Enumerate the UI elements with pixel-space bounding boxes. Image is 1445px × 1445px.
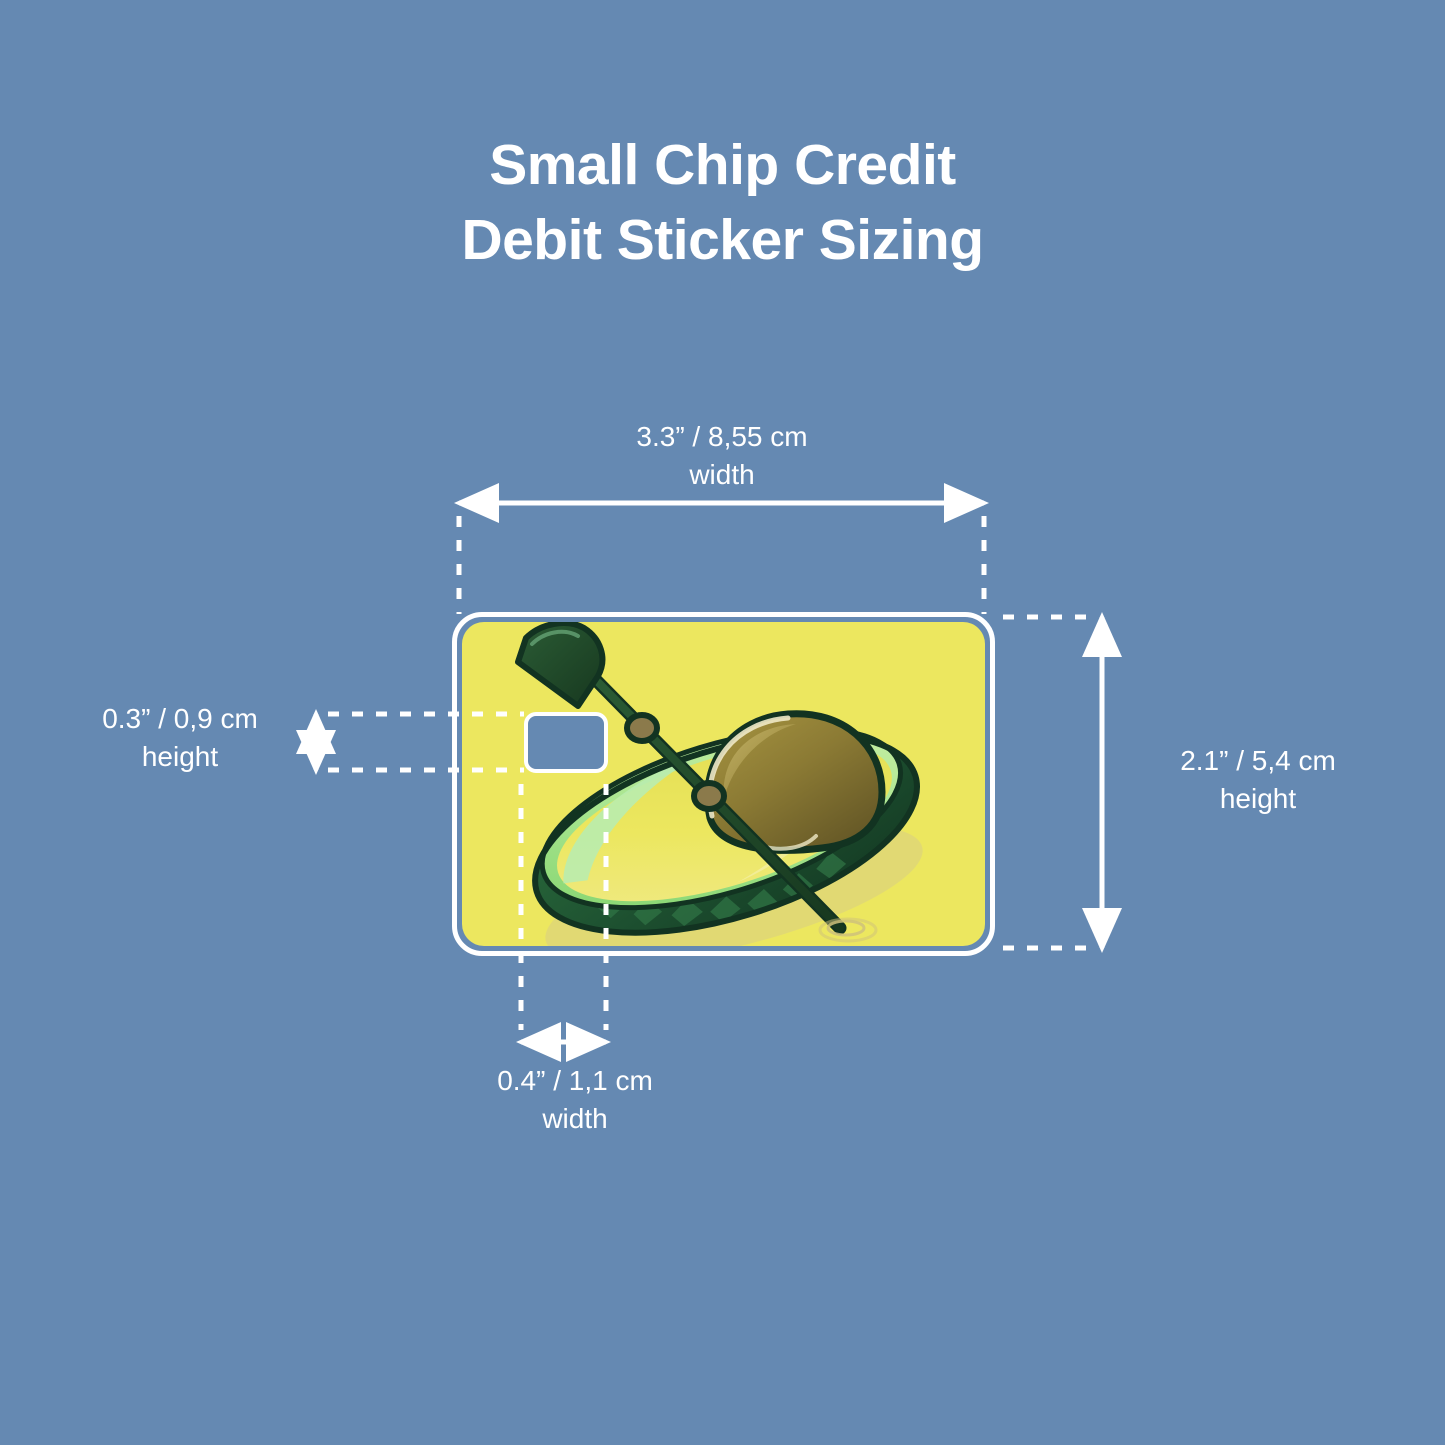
avocado-pit	[708, 714, 882, 851]
page-title: Small Chip Credit Debit Sticker Sizing	[0, 128, 1445, 278]
dimension-label-chip-width: 0.4” / 1,1 cm width	[425, 1062, 725, 1137]
avocado-kayak-icon	[462, 622, 985, 946]
sizing-diagram-canvas: Small Chip Credit Debit Sticker Sizing 3…	[0, 0, 1445, 1445]
dimension-label-chip-height: 0.3” / 0,9 cm height	[60, 700, 300, 775]
dimension-label-card-height: 2.1” / 5,4 cm height	[1118, 742, 1398, 817]
card-face	[462, 622, 985, 946]
dimension-label-card-width: 3.3” / 8,55 cm width	[512, 418, 932, 493]
water-ripple	[820, 919, 876, 941]
guide-card-width	[459, 503, 984, 614]
guide-card-height	[1003, 617, 1102, 948]
chip-cutout	[524, 712, 608, 773]
